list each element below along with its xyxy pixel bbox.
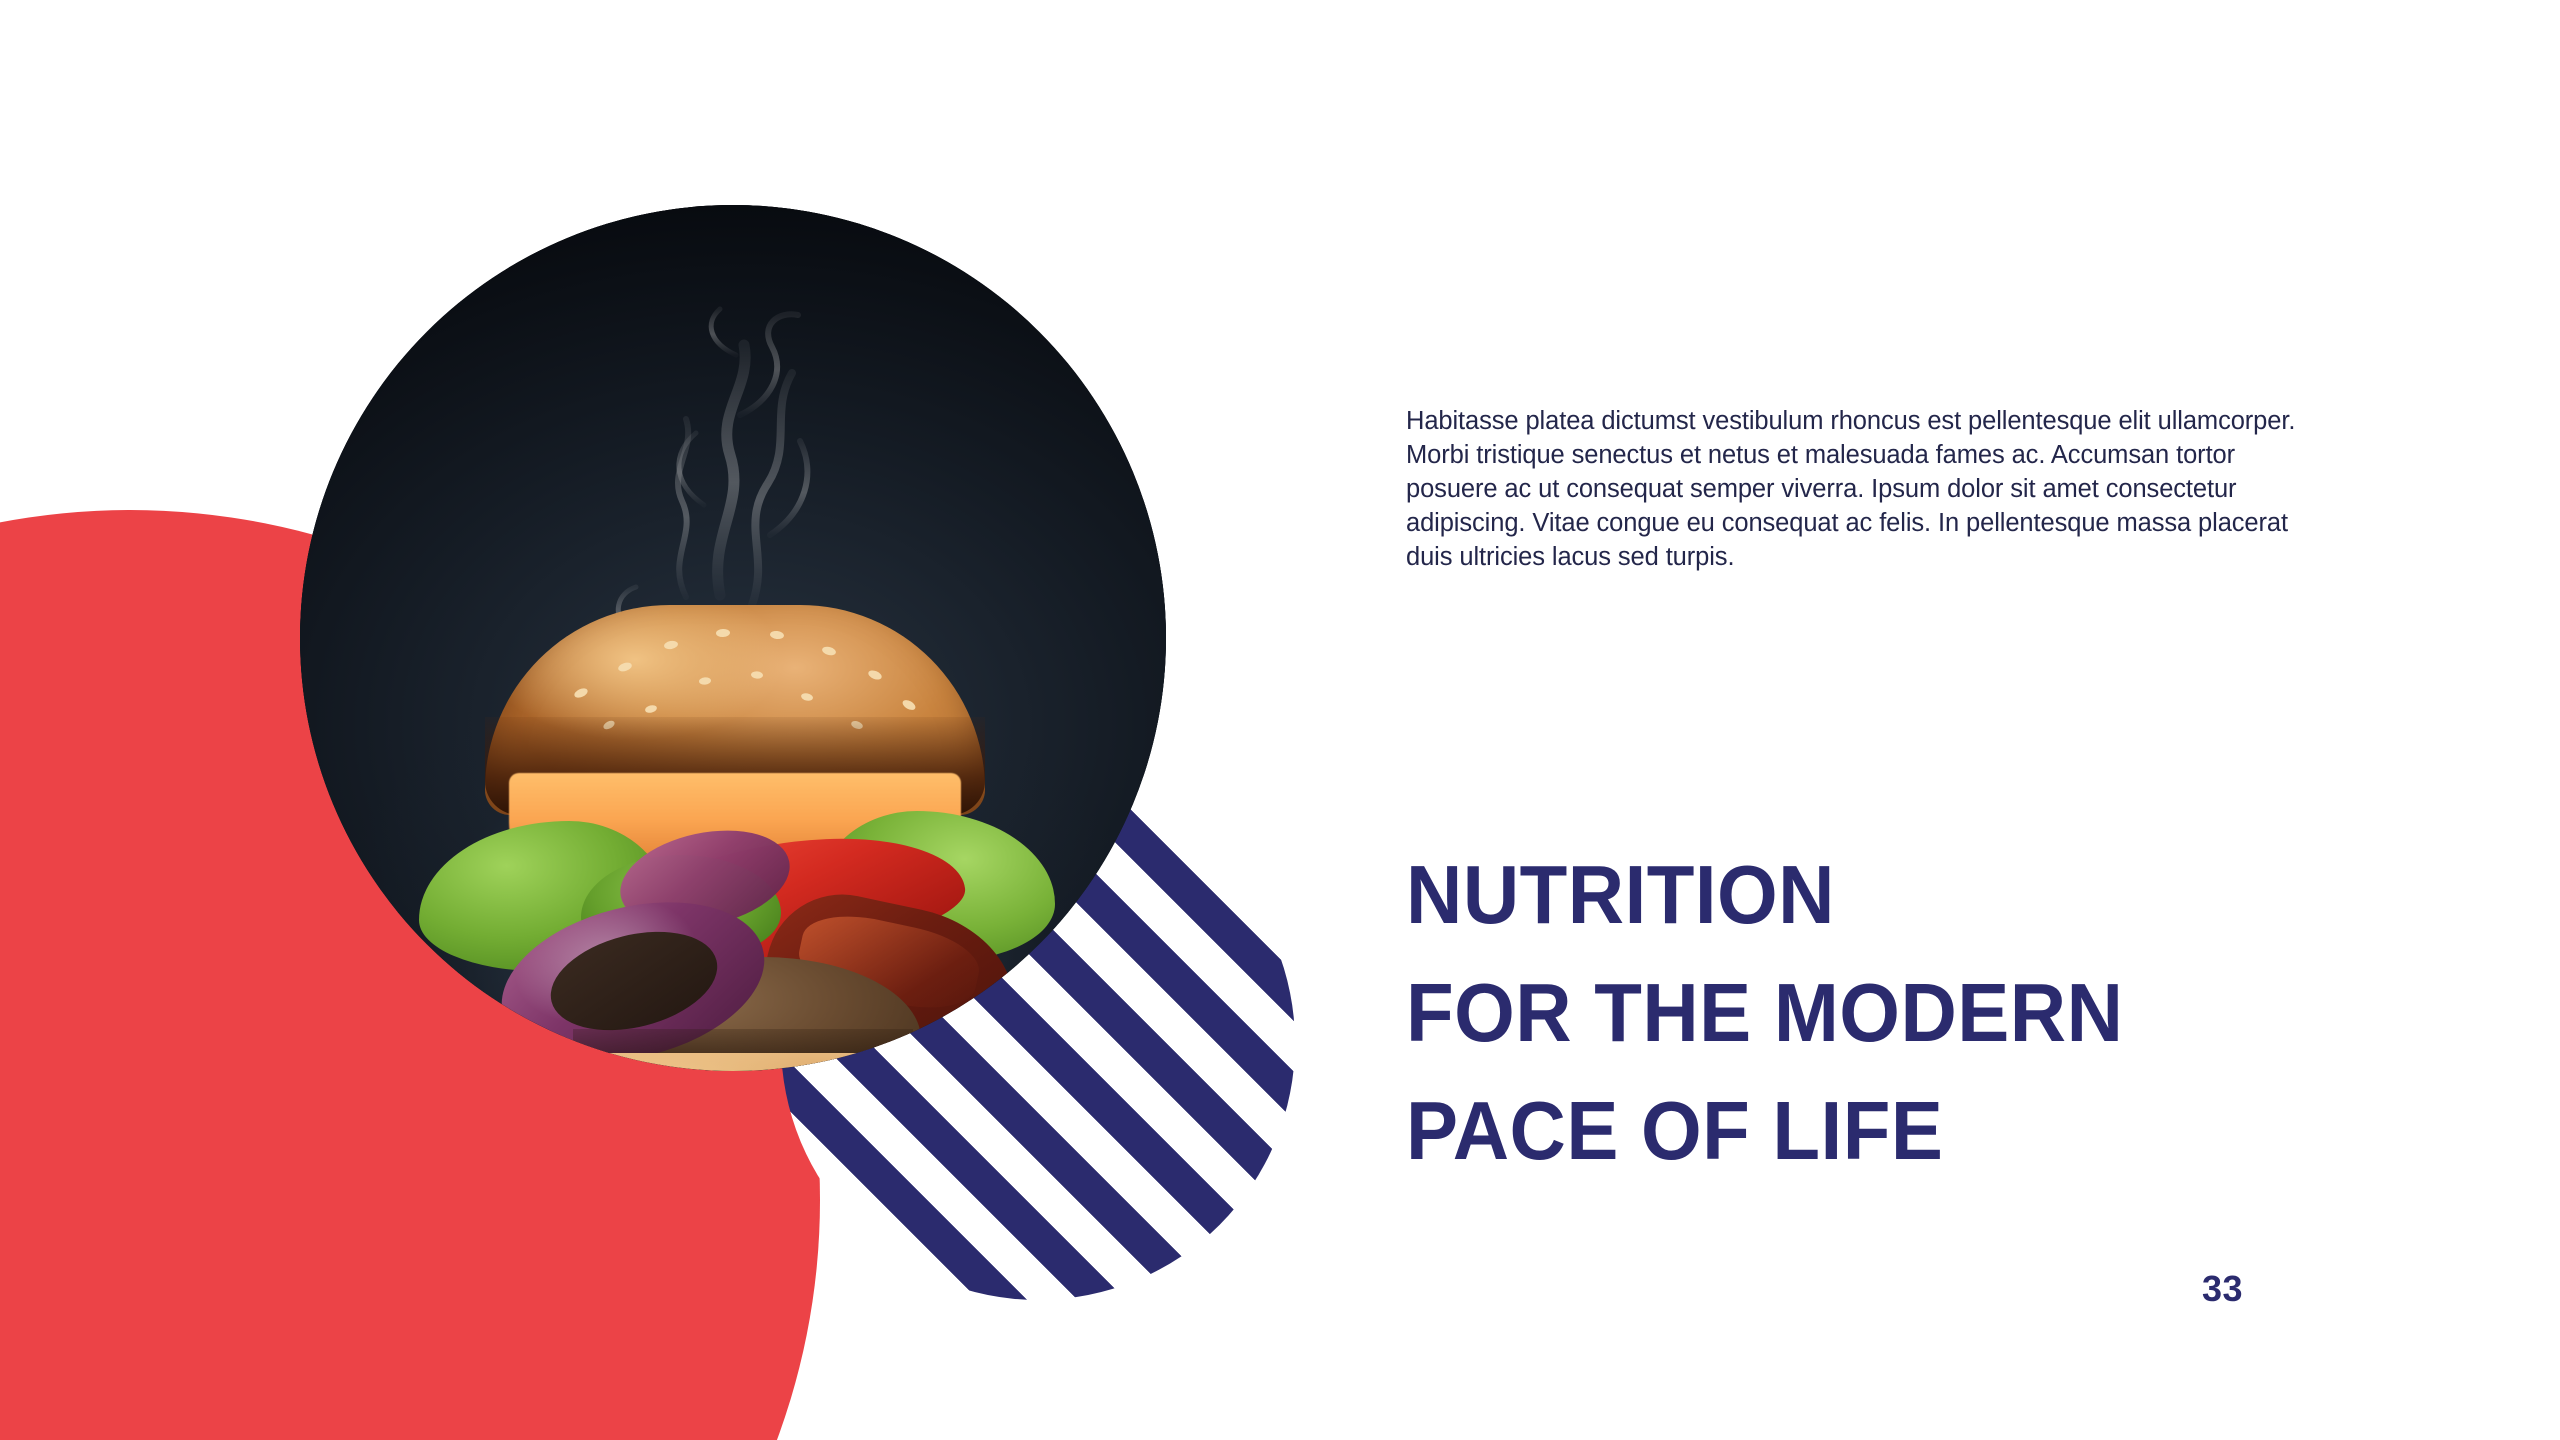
headline-line-3: PACE OF LIFE <box>1406 1072 2271 1190</box>
headline-line-1: NUTRITION <box>1406 836 2271 954</box>
page-number: 33 <box>2202 1268 2243 1310</box>
page-title: NUTRITION FOR THE MODERN PACE OF LIFE <box>1406 836 2271 1190</box>
slide-canvas: Habitasse platea dictumst vestibulum rho… <box>0 0 2560 1440</box>
body-paragraph: Habitasse platea dictumst vestibulum rho… <box>1406 404 2306 574</box>
burger-illustration <box>413 605 1053 1071</box>
burger-photo-circle <box>300 205 1166 1071</box>
headline-line-2: FOR THE MODERN <box>1406 954 2271 1072</box>
bun-bottom <box>477 1053 993 1071</box>
